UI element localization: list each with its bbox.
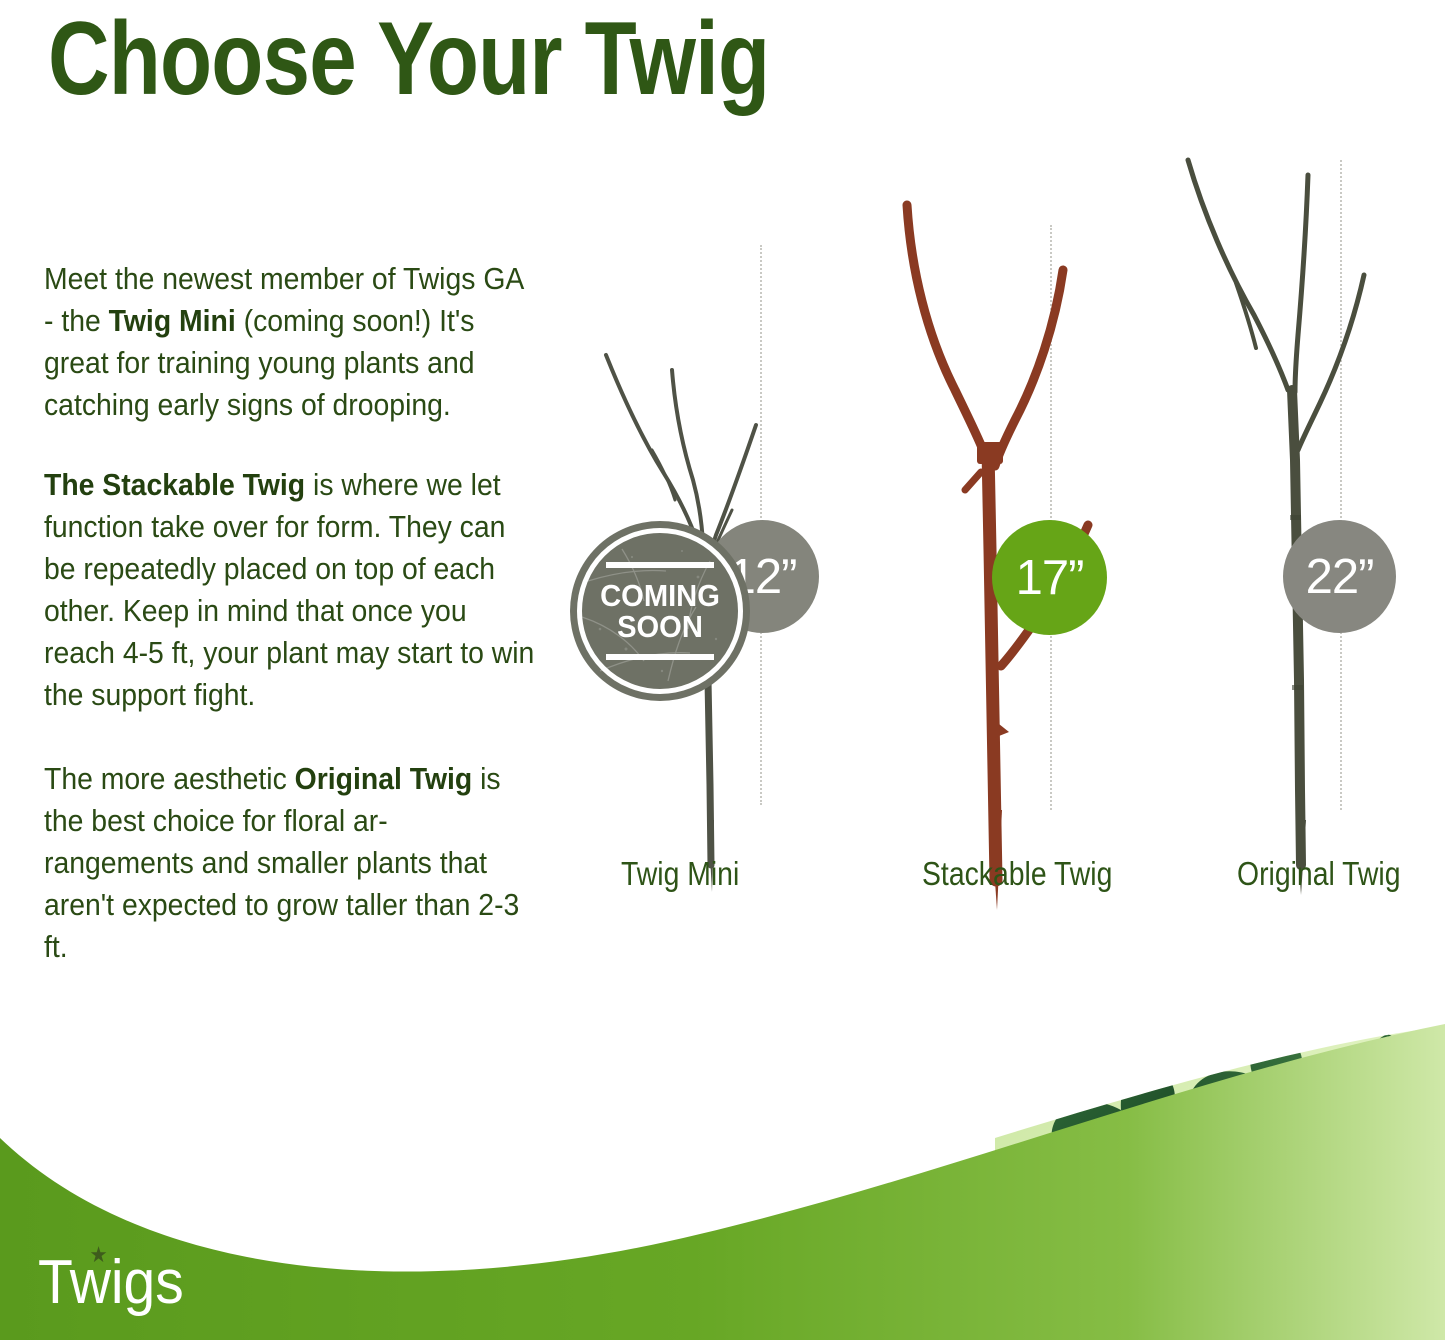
p2-text-after: is where we let function take over for f… — [44, 468, 534, 712]
product-column-twig-mini[interactable] — [560, 120, 850, 910]
coming-soon-line-1: COMING — [575, 580, 744, 611]
p3-text-before: The more aesthetic — [44, 762, 295, 796]
product-column-stackable-twig[interactable] — [855, 120, 1145, 910]
stackable-twig-illustration — [855, 120, 1145, 910]
original-twig-illustration — [1150, 120, 1440, 910]
paragraph-original-twig: The more aesthetic Original Twig is the … — [44, 758, 537, 968]
description-column: Meet the newest member of Twigs GA - the… — [44, 258, 536, 968]
paragraph-twig-mini: Meet the newest member of Twigs GA - the… — [44, 258, 537, 426]
brand-logo-text: Twigs — [38, 1248, 184, 1317]
stamp-rule-top — [606, 562, 714, 568]
page-title: Choose Your Twig — [48, 0, 769, 123]
product-label-twig-mini: Twig Mini — [621, 855, 739, 893]
paragraph-stackable-twig: The Stackable Twig is where we let funct… — [44, 464, 537, 716]
footer-swoosh-shape — [0, 1020, 1445, 1340]
footer-green-band — [0, 1020, 1445, 1340]
size-badge-stackable-twig[interactable]: 17” — [992, 520, 1107, 635]
product-comparison-area — [560, 120, 1445, 910]
coming-soon-line-2: SOON — [575, 611, 744, 642]
p2-bold-term: The Stackable Twig — [44, 468, 305, 502]
product-label-stackable-twig: Stackable Twig — [922, 855, 1112, 893]
product-column-original-twig[interactable] — [1150, 120, 1440, 910]
stamp-face: COMING SOON — [570, 521, 750, 701]
coming-soon-badge[interactable]: COMING SOON — [570, 521, 750, 701]
stamp-content: COMING SOON — [570, 562, 750, 660]
p1-bold-term: Twig Mini — [109, 304, 236, 338]
brand-logo[interactable]: Twigs ★ — [38, 1247, 184, 1318]
leaf-star-icon: ★ — [90, 1244, 108, 1266]
twig-mini-illustration — [560, 120, 850, 910]
product-label-original-twig: Original Twig — [1237, 855, 1401, 893]
size-badge-original-twig[interactable]: 22” — [1283, 520, 1396, 633]
stamp-rule-bottom — [606, 654, 714, 660]
p3-bold-term: Original Twig — [295, 762, 473, 796]
